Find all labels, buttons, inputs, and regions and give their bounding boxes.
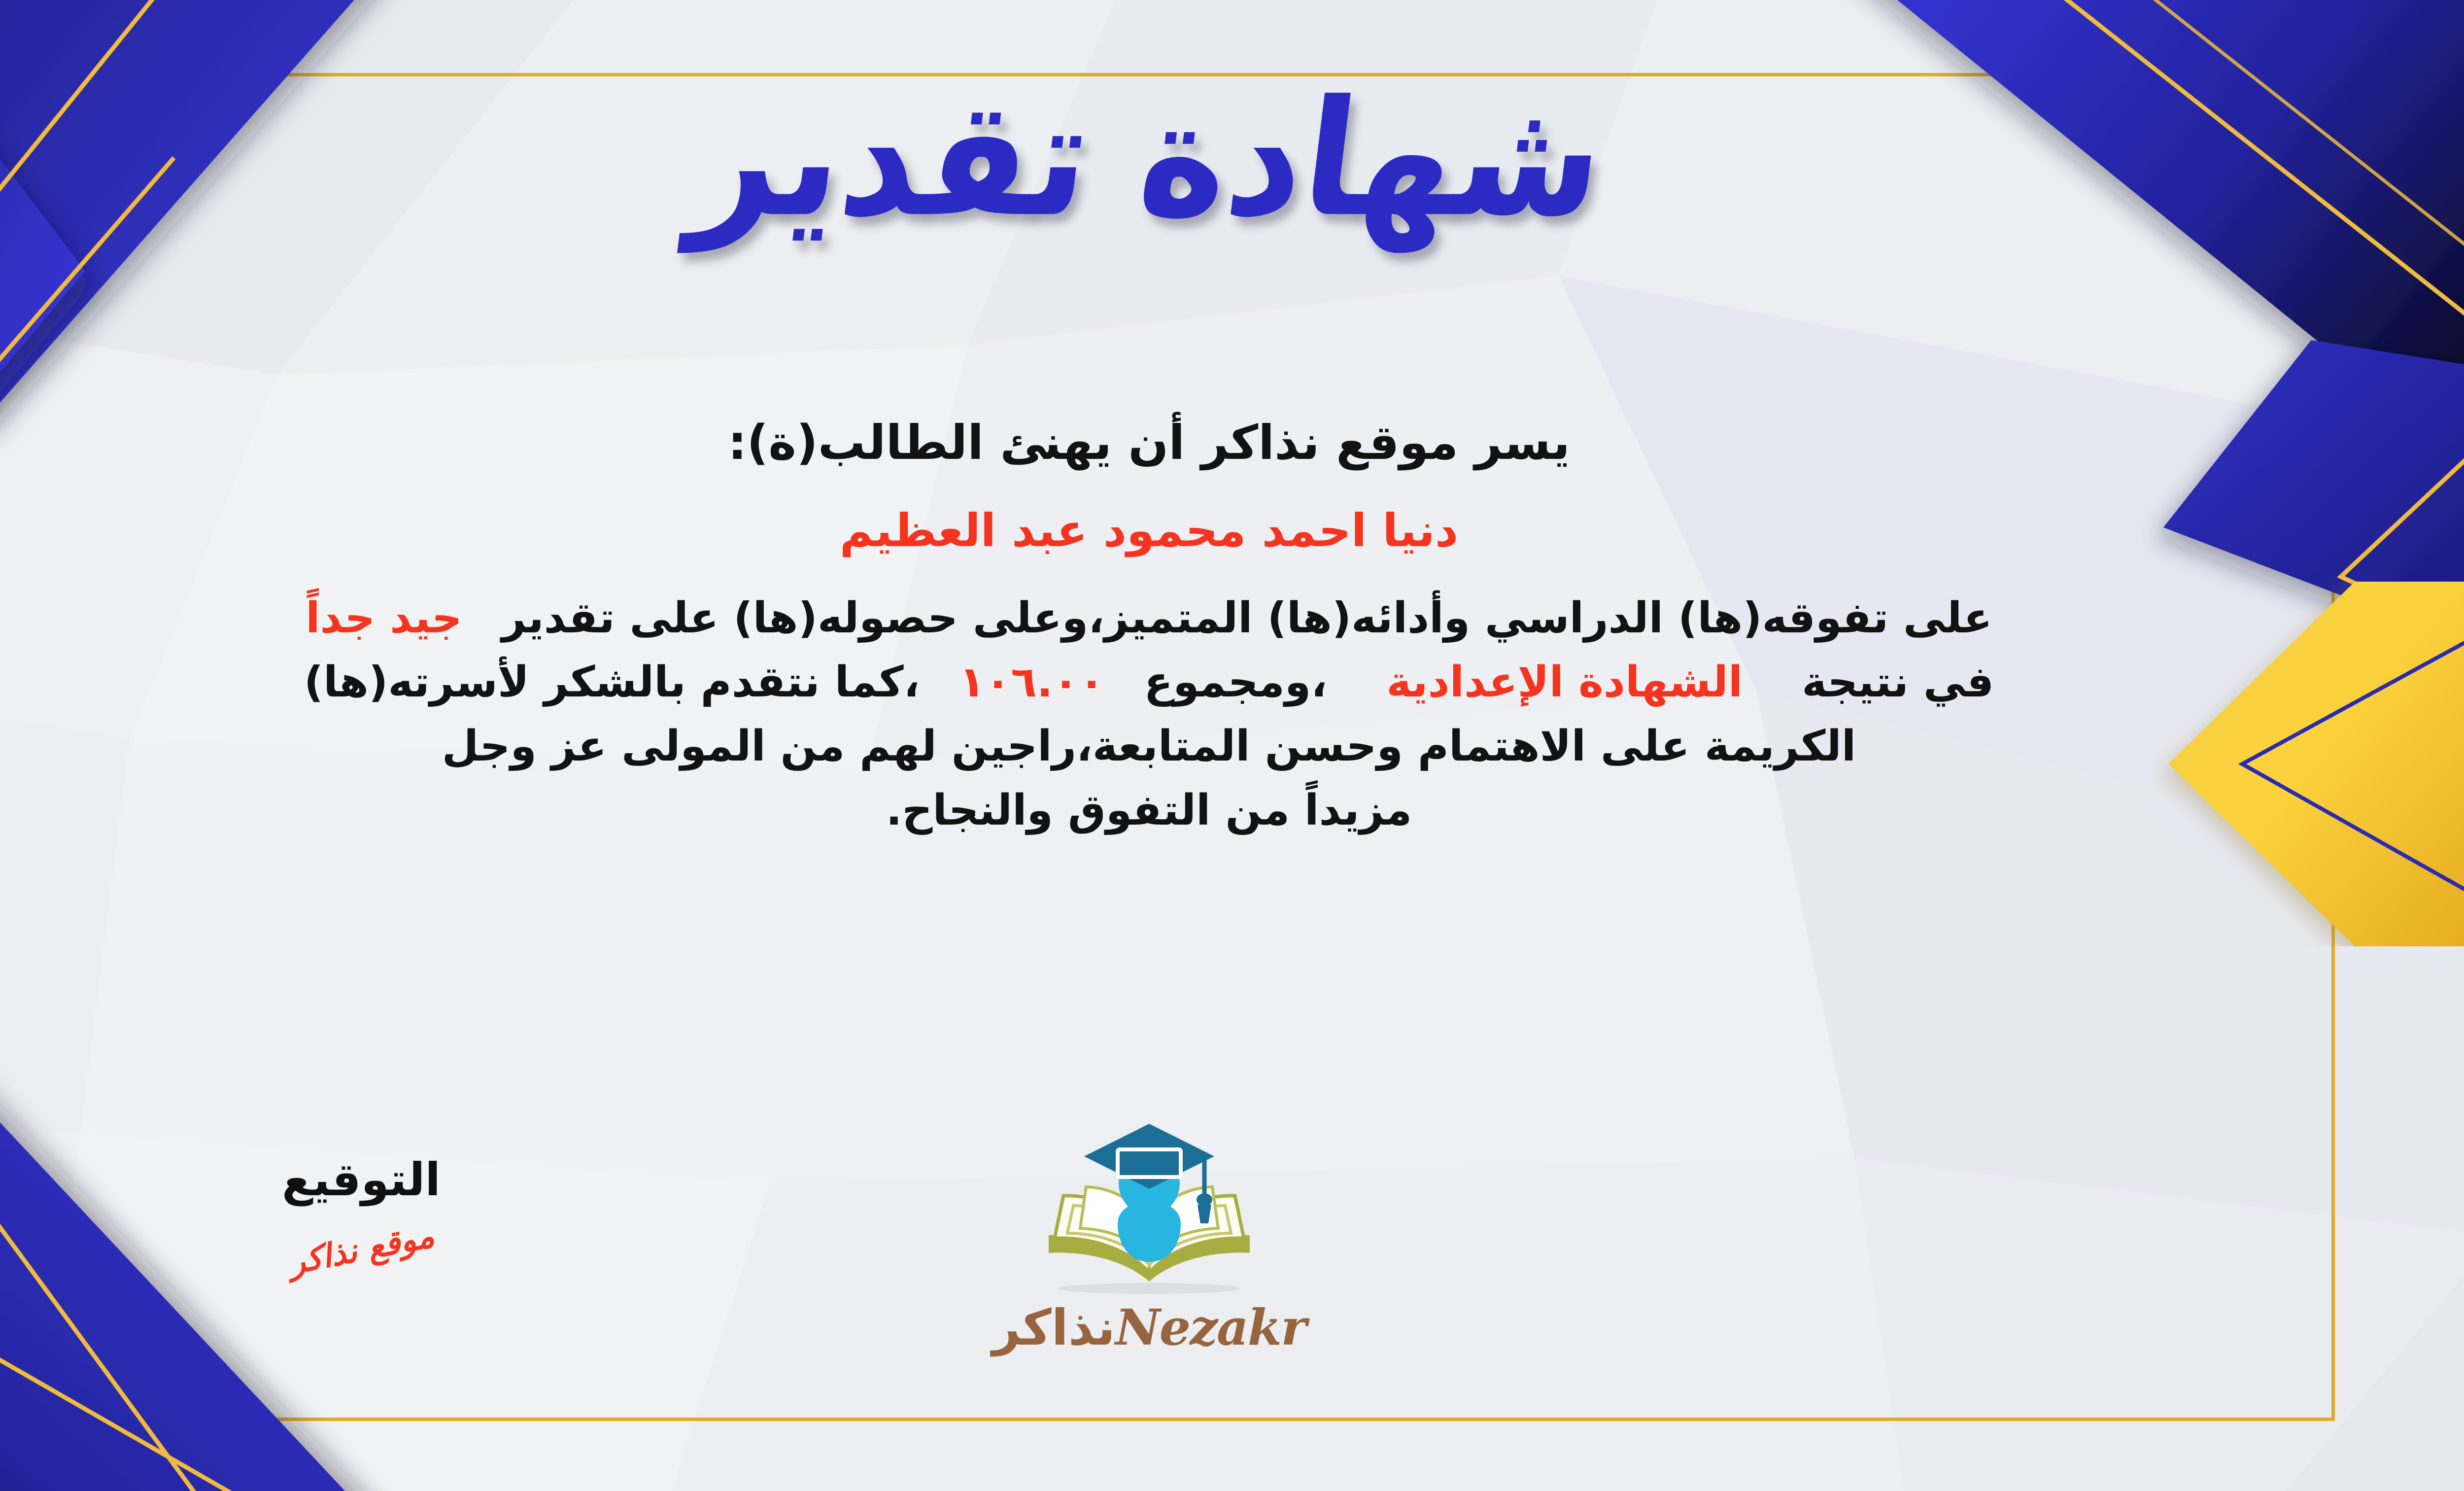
graduate-on-book-icon	[1031, 1119, 1267, 1301]
logo-wordmark-arabic: نذاكر	[992, 1299, 1115, 1356]
paragraph-line-1-text: على تفوقه(ها) الدراسي وأدائه(ها) المتميز…	[502, 593, 1992, 643]
logo-wordmark-latin: Nezakr	[1115, 1298, 1306, 1356]
paragraph-line-2: في نتيجةالشهادة الإعدادية،ومجموع١٠٦.٠٠،ك…	[0, 652, 2336, 712]
paragraph-line-4: مزيداً من التفوق والنجاح.	[0, 780, 2336, 840]
paragraph-line-1: على تفوقه(ها) الدراسي وأدائه(ها) المتميز…	[0, 588, 2336, 648]
student-name: دنيا احمد محمود عبد العظيم	[0, 499, 2336, 563]
signature-block: التوقيع موقع نذاكر	[189, 1153, 534, 1268]
logo-wordmark: Nezakrنذاكر	[962, 1298, 1336, 1356]
brand-logo: Nezakrنذاكر	[962, 1119, 1336, 1356]
certificate-title-text: شهادة تقدير	[684, 67, 1614, 251]
greeting-line: يسر موقع نذاكر أن يهنئ الطالب(ة):	[0, 409, 2336, 476]
total-label: ،ومجموع	[1144, 658, 1327, 707]
total-score: ١٠٦.٠٠	[959, 658, 1104, 707]
paragraph-line-3: الكريمة على الاهتمام وحسن المتابعة،راجين…	[0, 716, 2336, 776]
grade-value: جيد جداً	[306, 593, 462, 643]
certificate-body: يسر موقع نذاكر أن يهنئ الطالب(ة): دنيا ا…	[0, 409, 2336, 840]
exam-name: الشهادة الإعدادية	[1386, 658, 1743, 707]
thanks-text: ،كما نتقدم بالشكر لأسرته(ها)	[304, 658, 920, 707]
result-prefix: في نتيجة	[1802, 658, 1994, 707]
certificate-title: شهادة تقدير	[0, 74, 2464, 244]
signature-label: التوقيع	[189, 1153, 534, 1206]
certificate-canvas: شهادة تقدير يسر موقع نذاكر أن يهنئ الطال…	[0, 0, 2464, 1491]
